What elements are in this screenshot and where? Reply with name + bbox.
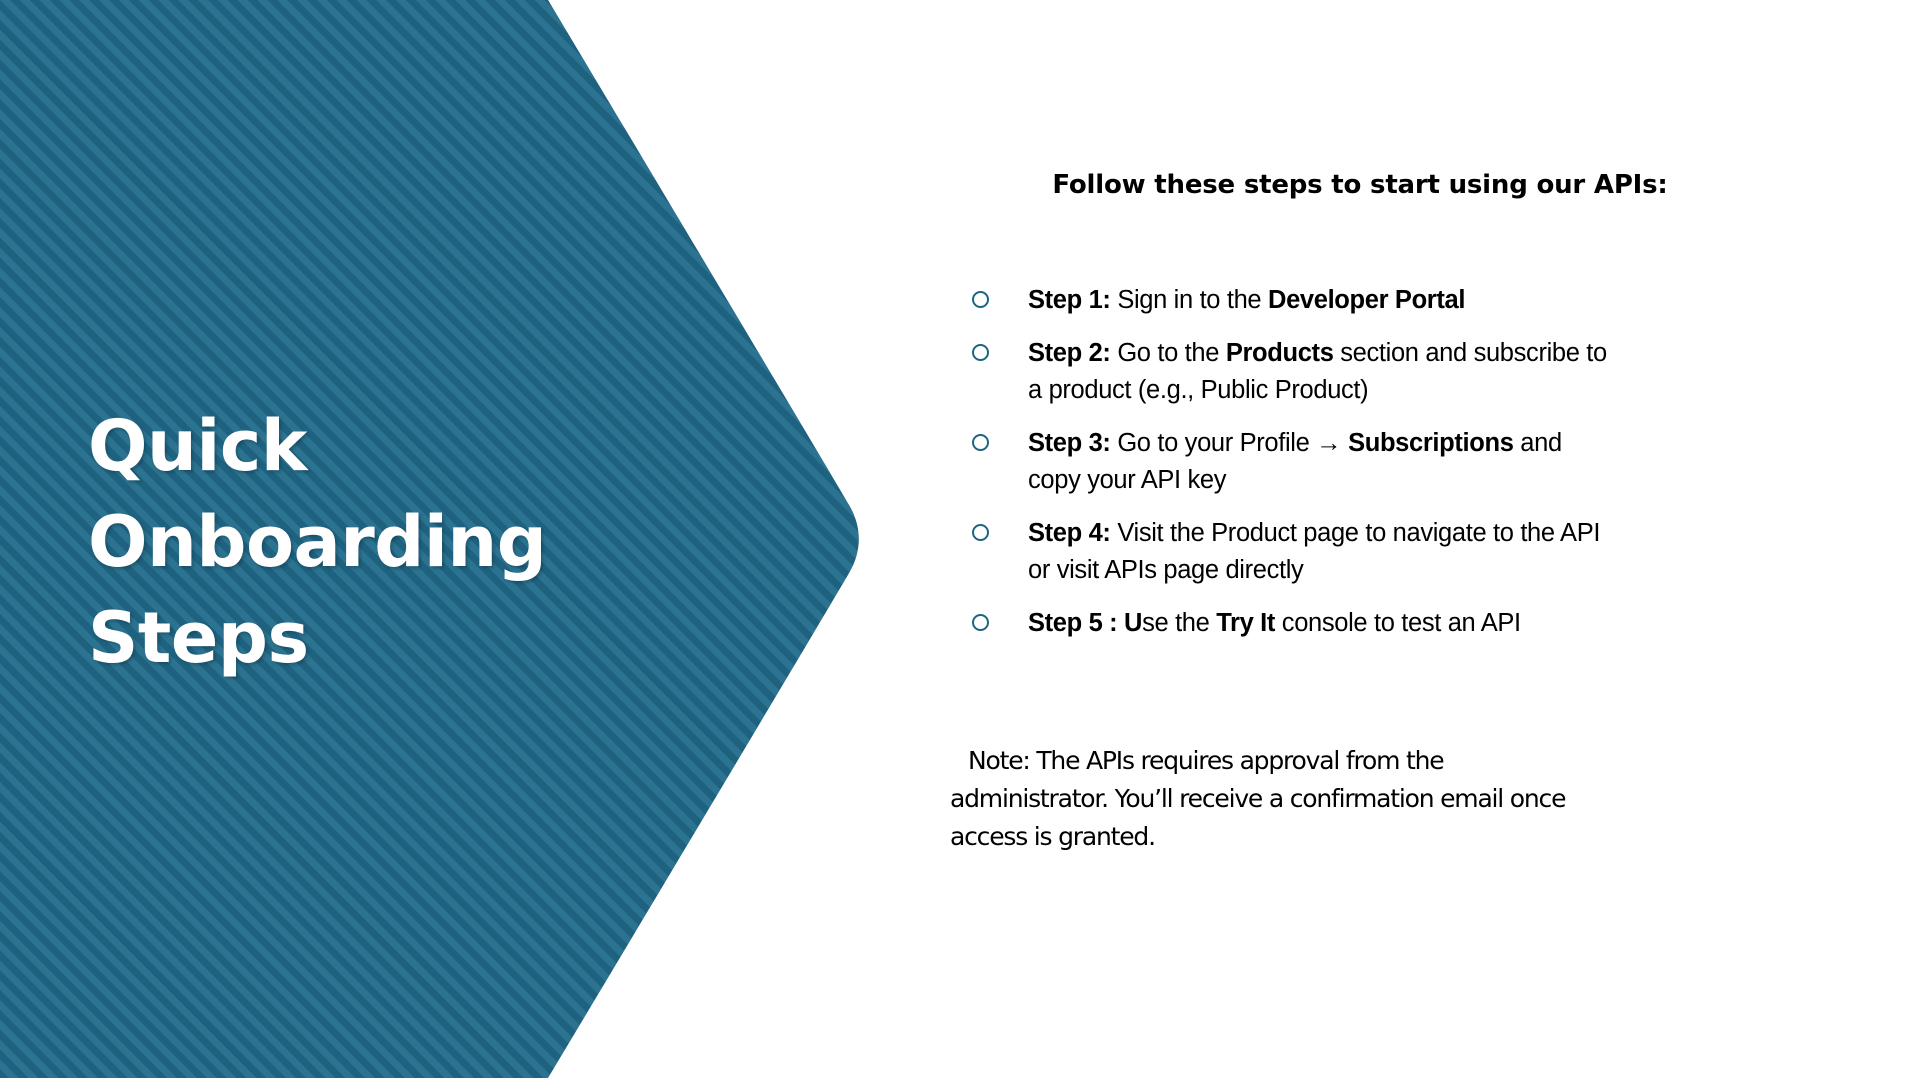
step-text: Visit the Product page to navigate to th… bbox=[1028, 519, 1600, 584]
list-item: Step 2: Go to the Products section and s… bbox=[960, 335, 1620, 409]
circle-outline-icon bbox=[972, 614, 989, 631]
slide: Quick Onboarding Steps Follow these step… bbox=[0, 0, 1919, 1078]
step-label: Step 3: bbox=[1028, 429, 1111, 457]
step-label: Step 5 : U bbox=[1028, 609, 1142, 637]
step-emphasis: Try It bbox=[1216, 609, 1275, 637]
step-label: Step 2: bbox=[1028, 339, 1111, 367]
list-item: Step 4: Visit the Product page to naviga… bbox=[960, 515, 1620, 589]
circle-outline-icon bbox=[972, 344, 989, 361]
list-item: Step 5 : Use the Try It console to test … bbox=[960, 605, 1620, 642]
circle-outline-icon bbox=[972, 434, 989, 451]
step-label: Step 1: bbox=[1028, 286, 1111, 314]
step-emphasis: Products bbox=[1226, 339, 1334, 367]
onboarding-steps-list: Step 1: Sign in to the Developer PortalS… bbox=[960, 282, 1620, 642]
step-text: Go to the bbox=[1111, 339, 1226, 367]
page-title: Quick Onboarding Steps bbox=[88, 398, 708, 686]
content-column: Follow these steps to start using our AP… bbox=[960, 0, 1860, 1078]
content-heading: Follow these steps to start using our AP… bbox=[1010, 170, 1710, 200]
step-text: Sign in to the bbox=[1111, 286, 1268, 314]
list-item: Step 1: Sign in to the Developer Portal bbox=[960, 282, 1620, 319]
circle-outline-icon bbox=[972, 524, 989, 541]
step-label: Step 4: bbox=[1028, 519, 1111, 547]
step-text: Go to your Profile → bbox=[1111, 429, 1348, 457]
step-emphasis: Subscriptions bbox=[1348, 429, 1513, 457]
step-text: console to test an API bbox=[1275, 609, 1521, 637]
list-item: Step 3: Go to your Profile → Subscriptio… bbox=[960, 425, 1620, 499]
step-text: se the bbox=[1142, 609, 1216, 637]
circle-outline-icon bbox=[972, 291, 989, 308]
step-emphasis: Developer Portal bbox=[1268, 286, 1465, 314]
note-text: Note: The APIs requires approval from th… bbox=[950, 742, 1590, 856]
